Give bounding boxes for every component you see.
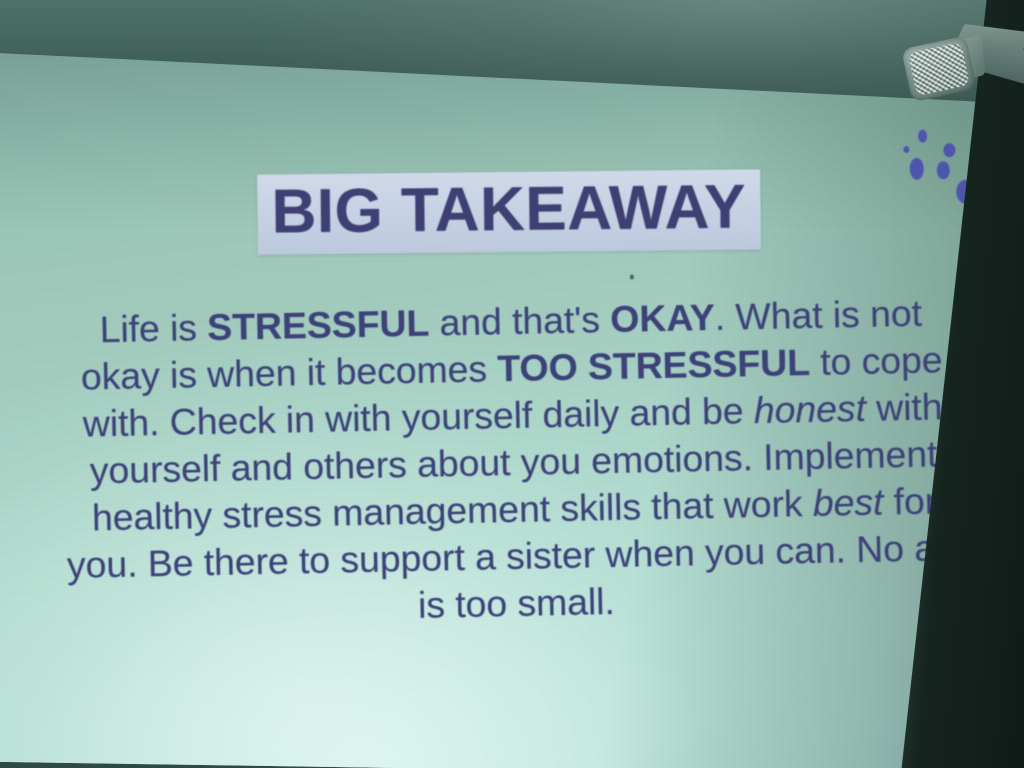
body-segment-3: OKAY (610, 296, 715, 340)
body-segment-7: honest (753, 387, 866, 431)
body-segment-0: Life is (99, 306, 207, 350)
ceiling-emergency-light (900, 14, 1024, 110)
decoration-dot-1 (903, 146, 909, 153)
body-segment-9: best (812, 481, 883, 524)
body-segment-2: and that's (429, 298, 611, 344)
slide-body-area: Life is STRESSFUL and that's OKAY. What … (58, 289, 968, 636)
dust-speck (630, 275, 634, 280)
decoration-dot-3 (943, 143, 955, 157)
slide-title: BIG TAKEAWAY (271, 173, 746, 247)
slide-title-area: BIG TAKEAWAY (0, 162, 1021, 263)
body-segment-1: STRESSFUL (207, 302, 430, 348)
slide: BIG TAKEAWAY Life is STRESSFUL and that'… (0, 0, 1024, 768)
title-highlight-band: BIG TAKEAWAY (257, 169, 760, 254)
body-segment-5: TOO STRESSFUL (497, 341, 810, 389)
photo-scene: BIG TAKEAWAY Life is STRESSFUL and that'… (0, 0, 1024, 768)
slide-body-text: Life is STRESSFUL and that's OKAY. What … (58, 289, 968, 636)
decoration-dot-0 (918, 130, 927, 143)
